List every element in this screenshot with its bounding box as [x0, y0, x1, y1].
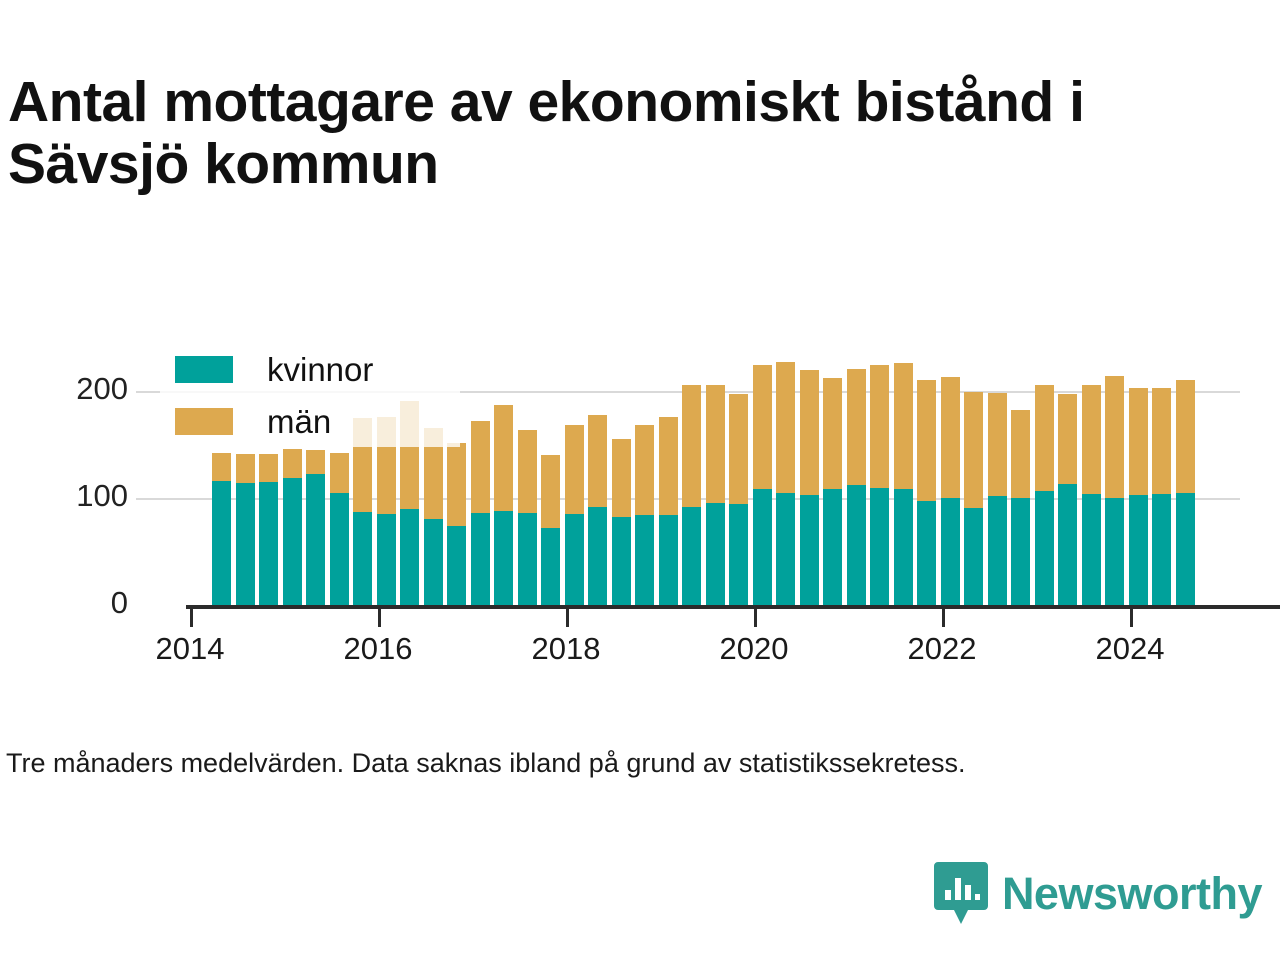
- bar-2016-Q2[interactable]: [424, 428, 443, 605]
- bar-segment-kvinnor: [306, 474, 325, 605]
- bar-segment-kvinnor: [682, 507, 701, 605]
- bar-2022-Q1[interactable]: [964, 392, 983, 605]
- bar-2018-Q1[interactable]: [588, 415, 607, 605]
- bar-2017-Q1[interactable]: [494, 405, 513, 605]
- x-tick-2014: [190, 607, 193, 627]
- bar-segment-kvinnor: [1105, 498, 1124, 605]
- bar-segment-kvinnor: [377, 514, 396, 605]
- bar-segment-man: [729, 394, 748, 504]
- bar-2023-Q1[interactable]: [1058, 394, 1077, 605]
- legend: kvinnor män: [175, 343, 373, 447]
- bar-segment-kvinnor: [471, 513, 490, 605]
- bar-2018-Q2[interactable]: [612, 439, 631, 605]
- legend-item-kvinnor[interactable]: kvinnor: [175, 343, 373, 395]
- bar-segment-man: [1129, 388, 1148, 495]
- legend-swatch-man: [175, 408, 233, 435]
- bar-2014-Q1[interactable]: [212, 453, 231, 605]
- bar-2018-Q3[interactable]: [635, 425, 654, 605]
- legend-label-man: män: [267, 405, 331, 438]
- bar-segment-kvinnor: [565, 514, 584, 605]
- bar-2023-Q4[interactable]: [1129, 388, 1148, 605]
- bar-2023-Q3[interactable]: [1105, 376, 1124, 605]
- bar-segment-man: [823, 378, 842, 489]
- x-tick-2016: [378, 607, 381, 627]
- bar-segment-kvinnor: [400, 509, 419, 605]
- bar-2022-Q2[interactable]: [988, 393, 1007, 605]
- bar-segment-man: [800, 370, 819, 495]
- bar-2017-Q2[interactable]: [518, 430, 537, 605]
- bar-segment-man: [847, 369, 866, 486]
- bar-2024-Q1[interactable]: [1152, 388, 1171, 605]
- bar-segment-kvinnor: [212, 481, 231, 605]
- bar-segment-kvinnor: [1152, 494, 1171, 605]
- bar-segment-man: [964, 392, 983, 508]
- bar-segment-kvinnor: [1035, 491, 1054, 605]
- chart-page: Antal mottagare av ekonomiskt bistånd i …: [0, 0, 1280, 960]
- bar-segment-kvinnor: [541, 528, 560, 605]
- bar-segment-kvinnor: [1058, 484, 1077, 605]
- bar-segment-kvinnor: [706, 503, 725, 605]
- bar-segment-man: [635, 425, 654, 515]
- bar-segment-man: [1176, 380, 1195, 492]
- bar-2014-Q4[interactable]: [283, 449, 302, 605]
- bar-segment-man: [1152, 388, 1171, 494]
- bar-segment-man: [518, 430, 537, 513]
- bar-segment-kvinnor: [729, 504, 748, 605]
- legend-label-kvinnor: kvinnor: [267, 353, 373, 386]
- bar-segment-kvinnor: [447, 526, 466, 605]
- bar-segment-kvinnor: [847, 485, 866, 605]
- bar-segment-kvinnor: [283, 478, 302, 605]
- bar-segment-kvinnor: [753, 489, 772, 605]
- bar-segment-man: [1058, 394, 1077, 484]
- bar-segment-kvinnor: [964, 508, 983, 605]
- bar-2021-Q2[interactable]: [894, 363, 913, 605]
- bar-segment-man: [753, 365, 772, 489]
- bar-segment-kvinnor: [635, 515, 654, 605]
- bar-segment-kvinnor: [259, 482, 278, 605]
- bar-2022-Q4[interactable]: [1035, 385, 1054, 605]
- bar-segment-kvinnor: [353, 512, 372, 605]
- bar-segment-kvinnor: [236, 483, 255, 605]
- bar-2016-Q3[interactable]: [447, 443, 466, 605]
- bar-chart-speech-bubble-icon: [934, 862, 988, 924]
- bar-segment-kvinnor: [494, 511, 513, 605]
- bar-segment-man: [941, 377, 960, 498]
- bar-2016-Q4[interactable]: [471, 421, 490, 605]
- bar-segment-man: [917, 380, 936, 501]
- bar-segment-man: [894, 363, 913, 489]
- bar-segment-kvinnor: [659, 515, 678, 605]
- bar-segment-man: [1082, 385, 1101, 494]
- bar-segment-kvinnor: [612, 517, 631, 605]
- bar-segment-kvinnor: [1011, 498, 1030, 605]
- x-tick-label-2016: 2016: [344, 631, 413, 667]
- bar-segment-man: [471, 421, 490, 513]
- bar-segment-kvinnor: [988, 496, 1007, 605]
- x-tick-2018: [566, 607, 569, 627]
- bar-2023-Q2[interactable]: [1082, 385, 1101, 605]
- bar-segment-kvinnor: [823, 489, 842, 605]
- bar-segment-kvinnor: [1082, 494, 1101, 605]
- bar-2018-Q4[interactable]: [659, 417, 678, 605]
- bar-2017-Q4[interactable]: [565, 425, 584, 605]
- bar-segment-man: [236, 454, 255, 483]
- bar-2019-Q1[interactable]: [682, 385, 701, 605]
- bar-2019-Q3[interactable]: [729, 394, 748, 605]
- x-tick-2024: [1130, 607, 1133, 627]
- bar-2020-Q1[interactable]: [776, 362, 795, 605]
- bar-segment-man: [588, 415, 607, 507]
- x-tick-2020: [754, 607, 757, 627]
- bar-segment-man: [212, 453, 231, 481]
- bar-segment-kvinnor: [424, 519, 443, 605]
- bar-segment-kvinnor: [800, 495, 819, 605]
- bar-2014-Q2[interactable]: [236, 454, 255, 605]
- bar-segment-man: [306, 450, 325, 475]
- legend-swatch-kvinnor: [175, 356, 233, 383]
- x-tick-label-2018: 2018: [532, 631, 601, 667]
- bar-segment-man: [283, 449, 302, 478]
- bar-2021-Q3[interactable]: [917, 380, 936, 605]
- bar-2021-Q4[interactable]: [941, 377, 960, 605]
- y-tick-label-200: 200: [28, 371, 128, 407]
- legend-item-man[interactable]: män: [175, 395, 373, 447]
- chart-footnote: Tre månaders medelvärden. Data saknas ib…: [6, 748, 965, 779]
- bar-segment-man: [776, 362, 795, 493]
- bar-segment-kvinnor: [894, 489, 913, 605]
- bar-segment-kvinnor: [1129, 495, 1148, 605]
- bar-segment-man: [988, 393, 1007, 496]
- bar-2020-Q2[interactable]: [800, 370, 819, 605]
- bar-segment-kvinnor: [870, 488, 889, 605]
- bar-segment-kvinnor: [518, 513, 537, 605]
- y-tick-label-0: 0: [28, 585, 128, 621]
- bar-2022-Q3[interactable]: [1011, 410, 1030, 605]
- page-title: Antal mottagare av ekonomiskt bistånd i …: [8, 72, 1148, 195]
- bar-segment-man: [1011, 410, 1030, 498]
- bar-2014-Q3[interactable]: [259, 454, 278, 605]
- bar-segment-man: [259, 454, 278, 482]
- bar-2020-Q4[interactable]: [847, 369, 866, 605]
- bar-2020-Q3[interactable]: [823, 378, 842, 605]
- x-tick-label-2022: 2022: [908, 631, 977, 667]
- bar-segment-man: [612, 439, 631, 517]
- bar-2015-Q2[interactable]: [330, 453, 349, 605]
- x-tick-2022: [942, 607, 945, 627]
- bar-2017-Q3[interactable]: [541, 455, 560, 605]
- bar-segment-kvinnor: [588, 507, 607, 605]
- bar-segment-man: [330, 453, 349, 493]
- bar-segment-kvinnor: [1176, 493, 1195, 605]
- bar-segment-kvinnor: [330, 493, 349, 605]
- bar-segment-kvinnor: [917, 501, 936, 605]
- bar-segment-man: [1035, 385, 1054, 491]
- bar-2019-Q2[interactable]: [706, 385, 725, 605]
- bar-segment-man: [659, 417, 678, 515]
- bar-segment-man: [447, 443, 466, 525]
- bar-segment-man: [706, 385, 725, 504]
- newsworthy-logo[interactable]: Newsworthy: [934, 862, 1262, 924]
- bar-segment-man: [565, 425, 584, 514]
- x-axis: 201420162018202020222024: [136, 607, 1240, 687]
- bar-segment-man: [682, 385, 701, 507]
- bar-segment-man: [541, 455, 560, 528]
- y-axis-labels: 2001000: [10, 330, 128, 630]
- y-tick-label-100: 100: [28, 478, 128, 514]
- bar-segment-kvinnor: [941, 498, 960, 605]
- x-tick-label-2024: 2024: [1096, 631, 1165, 667]
- x-tick-label-2020: 2020: [720, 631, 789, 667]
- bar-2021-Q1[interactable]: [870, 365, 889, 605]
- brand-name: Newsworthy: [1002, 871, 1262, 916]
- bar-2019-Q4[interactable]: [753, 365, 772, 605]
- bar-2015-Q1[interactable]: [306, 450, 325, 605]
- bar-2024-Q2[interactable]: [1176, 380, 1195, 605]
- bar-segment-kvinnor: [776, 493, 795, 605]
- bar-segment-man: [494, 405, 513, 511]
- x-tick-label-2014: 2014: [156, 631, 225, 667]
- bar-segment-man: [870, 365, 889, 488]
- bar-segment-man: [1105, 376, 1124, 498]
